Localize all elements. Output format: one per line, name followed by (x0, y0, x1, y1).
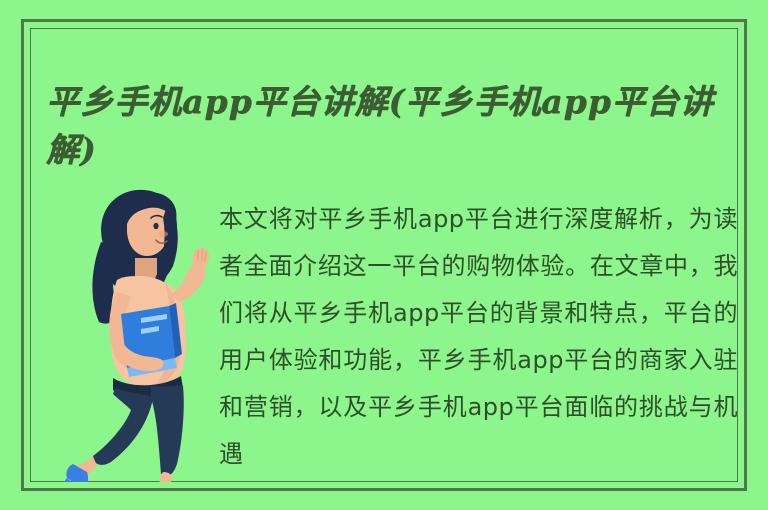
illustration-woman-waving-holding-book (55, 172, 230, 482)
eye-shape (153, 223, 158, 229)
pants-left-leg (93, 388, 153, 465)
pants-right-leg (151, 385, 184, 475)
article-text-panel: 本文将对平乡手机app平台进行深度解析，为读者全面介绍这一平台的购物体验。在文章… (219, 172, 738, 482)
poster-canvas: 平乡手机app平台讲解(平乡手机app平台讲解) (0, 0, 768, 510)
hand-waving-shape (192, 248, 209, 271)
article-body: 本文将对平乡手机app平台进行深度解析，为读者全面介绍这一平台的购物体验。在文章… (219, 196, 738, 478)
page-title: 平乡手机app平台讲解(平乡手机app平台讲解) (46, 78, 736, 174)
blush-shape (158, 231, 168, 237)
